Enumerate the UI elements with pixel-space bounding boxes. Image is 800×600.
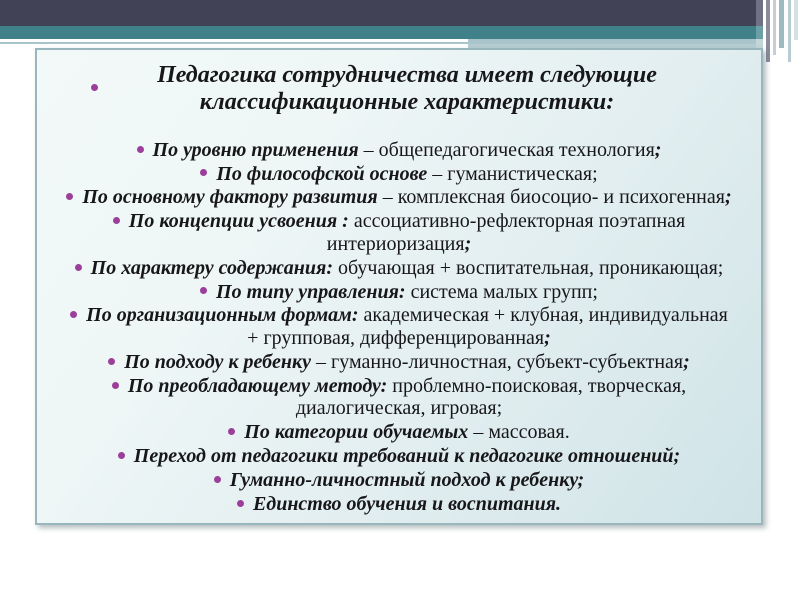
header-vstripe-4 [766, 0, 770, 62]
item-bold-tail: ; [465, 233, 472, 255]
list-item: По уровню применения – общепедагогическа… [59, 139, 739, 162]
list-item-title: Педагогика сотрудничества имеет следующи… [59, 62, 739, 117]
header-vstripe-2 [756, 26, 763, 39]
list-item: Единство обучения и воспитания. [59, 493, 739, 516]
bullet-dot-icon [75, 264, 82, 271]
list-item: По типу управления: система малых групп; [59, 281, 739, 304]
header-band-dark [0, 0, 756, 26]
item-bold-tail: ; [725, 186, 732, 208]
title-text: Педагогика сотрудничества имеет следующи… [107, 62, 707, 117]
bullet-dot-icon [70, 311, 77, 318]
list-item: По концепции усвоения : ассоциативно-реф… [59, 210, 739, 256]
item-normal-text: ассоциативно-рефлекторная поэтапная инте… [327, 210, 685, 255]
header-vstripe-6 [779, 0, 784, 48]
item-bold-label: По уровню применения [153, 139, 359, 161]
bullet-dot-icon [91, 84, 98, 91]
bullet-dot-icon [118, 452, 125, 459]
item-normal-text: – комплексная биосоцио- и психогенная [378, 186, 725, 208]
bullet-dot-icon [228, 428, 235, 435]
item-bold-label: По философской основе [216, 163, 427, 185]
bullet-dot-icon [108, 358, 115, 365]
header-vstripe-7 [788, 0, 791, 62]
bullet-dot-icon [137, 146, 144, 153]
item-normal-text: – общепедагогическая технология [359, 139, 655, 161]
header-vstripe-1 [756, 0, 763, 26]
bullet-list: Педагогика сотрудничества имеет следующи… [59, 62, 739, 515]
item-bold-tail: ; [683, 351, 690, 373]
bullet-dot-icon [66, 193, 73, 200]
item-bold-tail: ; [655, 139, 662, 161]
list-item: По характеру содержания: обучающая + вос… [59, 257, 739, 280]
item-normal-text: система малых групп; [406, 281, 598, 303]
item-bold-label: По категории обучаемых [244, 421, 468, 443]
item-bold-label: Единство обучения и воспитания. [253, 493, 561, 515]
spacer [59, 117, 739, 139]
list-item: По философской основе – гуманистическая; [59, 163, 739, 186]
item-normal-text: обучающая + воспитательная, проникающая; [333, 257, 723, 279]
list-item: По основному фактору развития – комплекс… [59, 186, 739, 209]
item-normal-text: – массовая. [468, 421, 569, 443]
bullet-dot-icon [237, 500, 244, 507]
item-bold-label: По преобладающему методу: [128, 375, 387, 397]
list-item: Переход от педагогики требований к педаг… [59, 445, 739, 468]
item-normal-text: – гуманистическая; [427, 163, 597, 185]
header-band-gap [0, 39, 468, 42]
bullet-dot-icon [113, 217, 120, 224]
item-bold-label: По концепции усвоения : [129, 210, 349, 232]
bullet-dot-icon [214, 476, 221, 483]
header-band-teal [0, 26, 756, 39]
content-box: Педагогика сотрудничества имеет следующи… [35, 48, 763, 525]
bullet-dot-icon [200, 287, 207, 294]
item-bold-label: По типу управления: [216, 281, 406, 303]
item-bold-tail: ; [544, 327, 551, 349]
item-bold-label: Переход от педагогики требований к педаг… [134, 445, 680, 467]
bullet-dot-icon [200, 169, 207, 176]
slide: Педагогика сотрудничества имеет следующи… [0, 0, 800, 600]
list-item: По преобладающему методу: проблемно-поис… [59, 375, 739, 421]
item-bold-label: Гуманно-личностный подход к ребенку; [230, 469, 584, 491]
item-bold-label: По характеру содержания: [91, 257, 333, 279]
item-bold-label: По основному фактору развития [82, 186, 377, 208]
item-bold-label: По организационным формам: [86, 304, 358, 326]
list-item: По подходу к ребенку – гуманно-личностна… [59, 351, 739, 374]
list-item: Гуманно-личностный подход к ребенку; [59, 469, 739, 492]
item-normal-text: – гуманно-личностная, субъект-субъектная [311, 351, 683, 373]
header-vstripe-5 [773, 0, 776, 55]
header-vstripe-3 [756, 39, 763, 48]
header-vstripe-8 [794, 0, 798, 40]
bullet-dot-icon [112, 382, 119, 389]
item-bold-label: По подходу к ребенку [124, 351, 311, 373]
list-item: По категории обучаемых – массовая. [59, 421, 739, 444]
list-item: По организационным формам: академическая… [59, 304, 739, 350]
